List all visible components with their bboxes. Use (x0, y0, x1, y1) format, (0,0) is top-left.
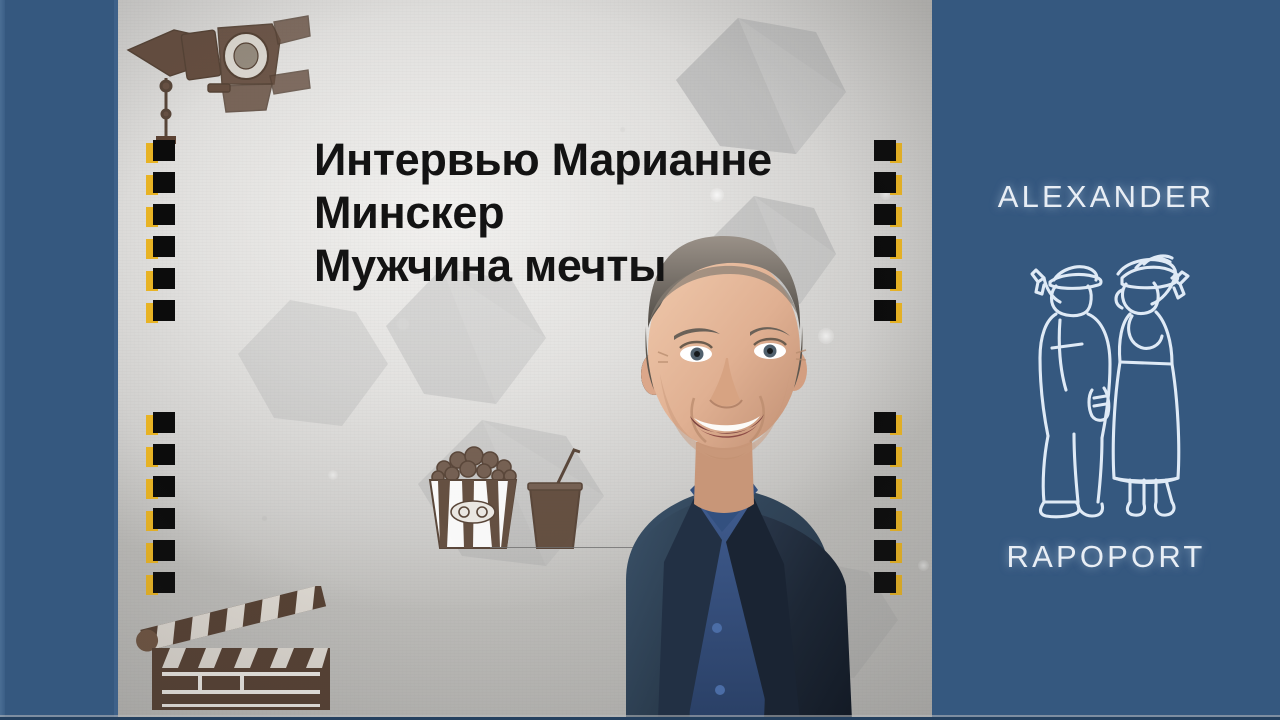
brand-last-name: RAPOPORT (932, 539, 1280, 575)
brand-first-name: ALEXANDER (932, 179, 1280, 215)
title-line-1: Интервью Марианне (314, 133, 834, 186)
title-line-2: Минскер (314, 186, 834, 239)
left-blue-panel (0, 0, 118, 720)
page-title: Интервью Марианне Минскер Мужчина мечты (314, 133, 834, 292)
video-thumbnail-canvas: Интервью Марианне Минскер Мужчина мечты (0, 0, 1280, 720)
title-line-3: Мужчина мечты (314, 239, 834, 292)
duel-couple-icon (1026, 240, 1196, 525)
central-artwork: Интервью Марианне Минскер Мужчина мечты (118, 0, 932, 720)
